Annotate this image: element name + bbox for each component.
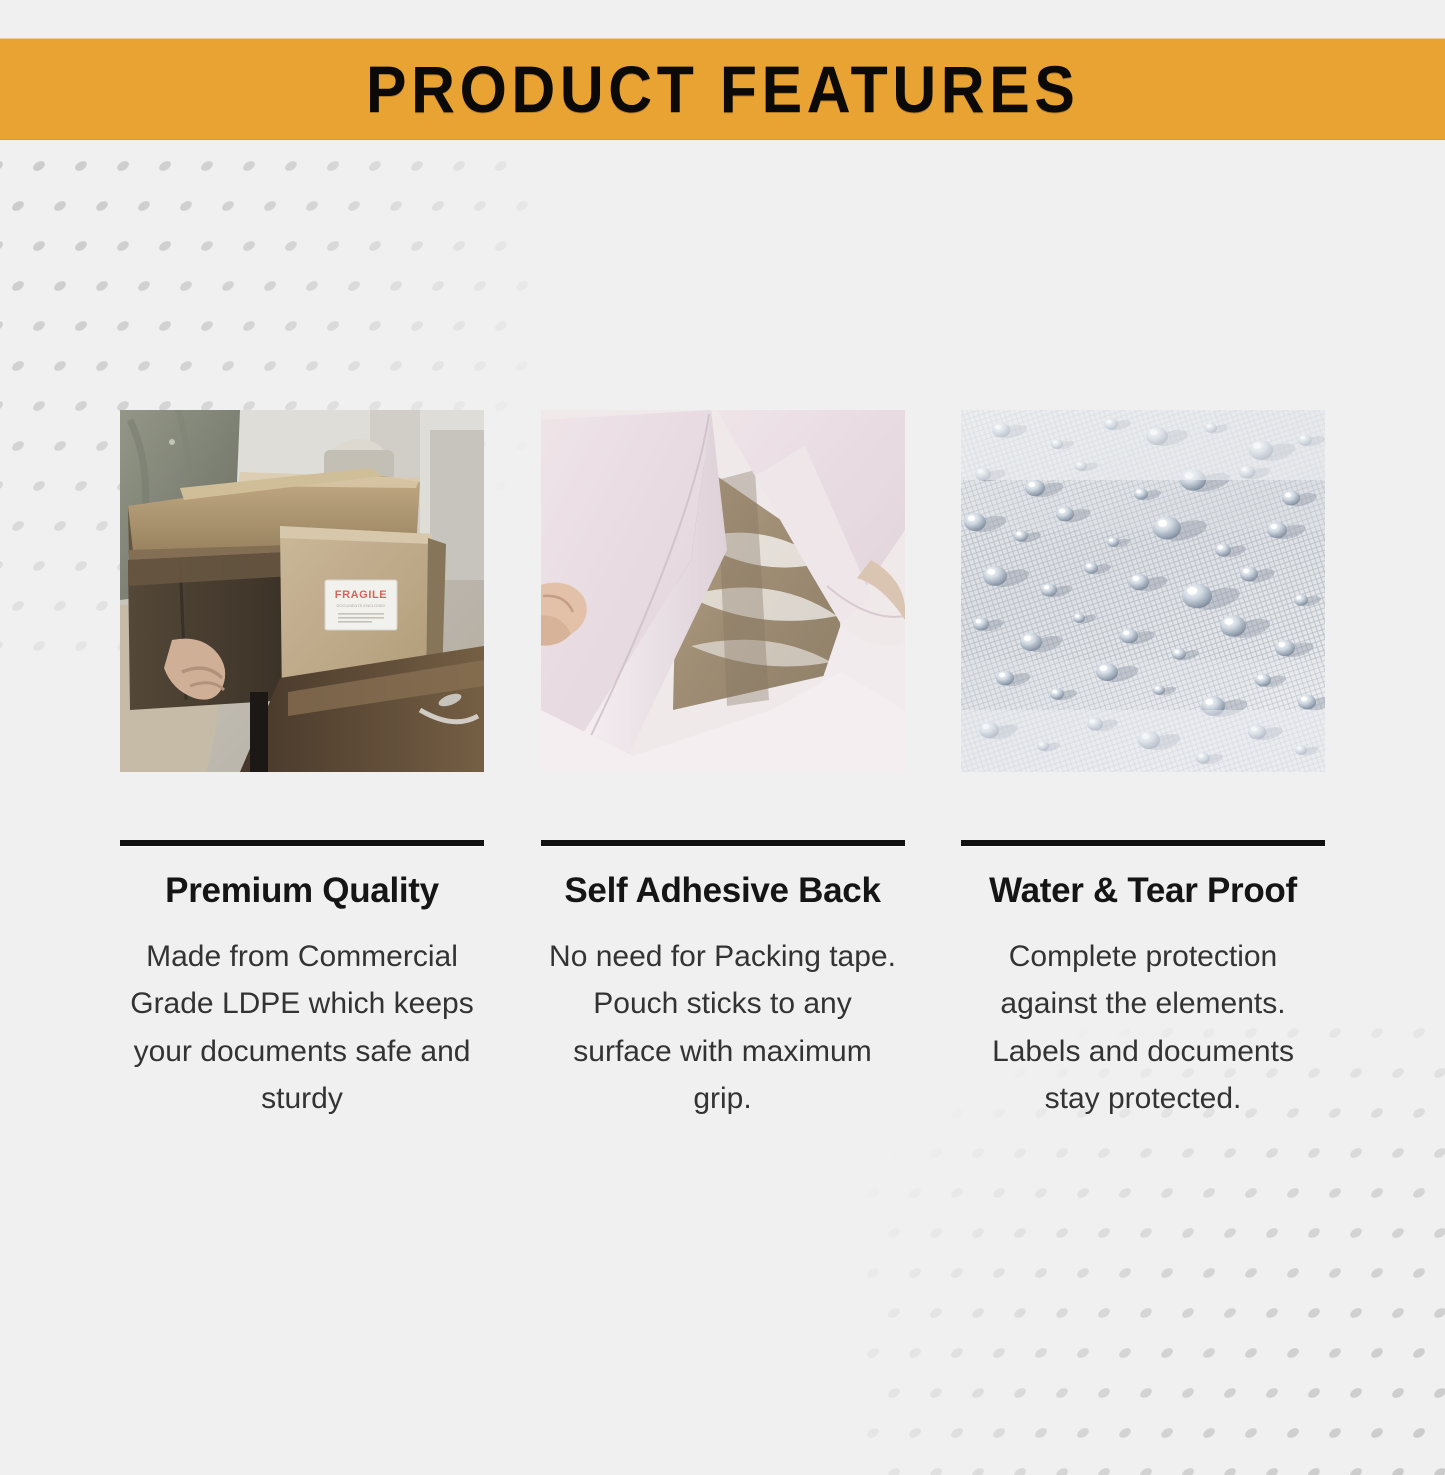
feature-description: Made from Commercial Grade LDPE which ke…: [120, 933, 484, 1123]
feature-card-self-adhesive-back: Self Adhesive Back No need for Packing t…: [541, 410, 905, 1123]
feature-description: Complete protection against the elements…: [961, 933, 1325, 1123]
feature-columns: FRAGILE DOCUMENTS ENCLOSED: [120, 410, 1325, 1123]
feature-title: Premium Quality: [120, 871, 484, 911]
feature-divider-rule: [961, 840, 1325, 846]
feature-title: Self Adhesive Back: [541, 871, 905, 911]
feature-image-water-tear-proof: [961, 410, 1325, 772]
feature-description: No need for Packing tape. Pouch sticks t…: [541, 933, 905, 1123]
page-title: PRODUCT FEATURES: [366, 56, 1079, 122]
feature-image-premium-quality: FRAGILE DOCUMENTS ENCLOSED: [120, 410, 484, 772]
header-banner: PRODUCT FEATURES: [0, 38, 1445, 140]
feature-card-premium-quality: FRAGILE DOCUMENTS ENCLOSED: [120, 410, 484, 1123]
feature-image-self-adhesive-back: [541, 410, 905, 772]
feature-divider-rule: [120, 840, 484, 846]
feature-title: Water & Tear Proof: [961, 871, 1325, 911]
feature-card-water-tear-proof: Water & Tear Proof Complete protection a…: [961, 410, 1325, 1123]
feature-divider-rule: [541, 840, 905, 846]
